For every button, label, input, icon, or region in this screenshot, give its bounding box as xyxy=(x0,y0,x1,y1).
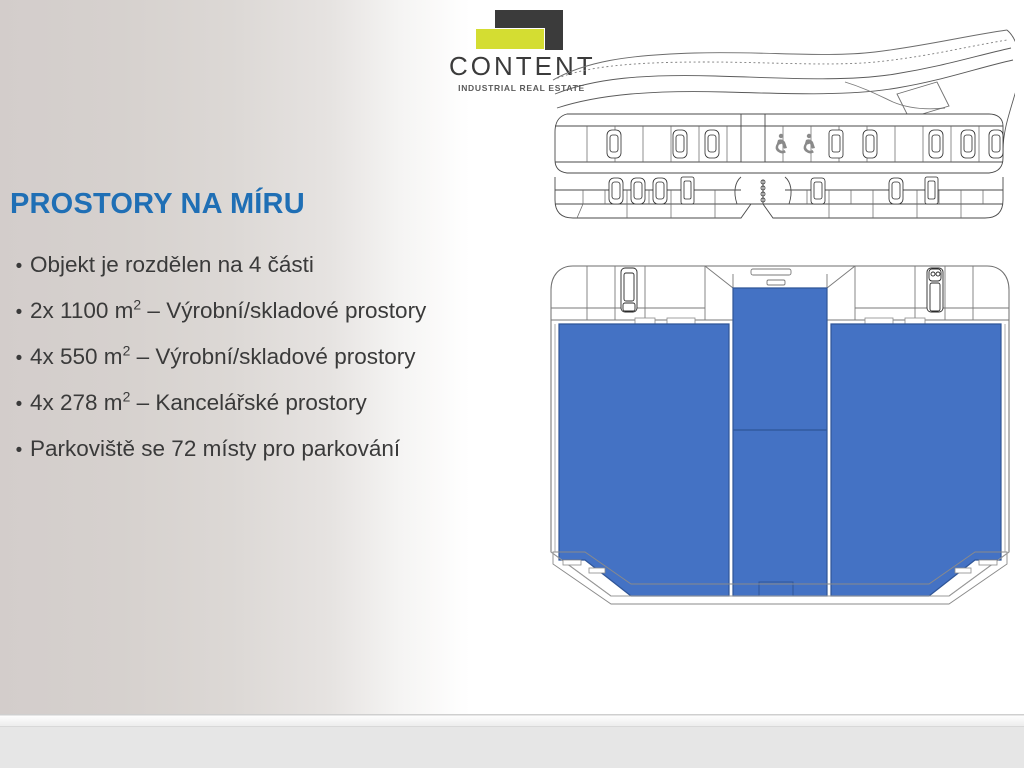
bullet-marker-icon: • xyxy=(8,441,30,460)
bullet-marker-icon: • xyxy=(8,395,30,414)
unit-prefix: 4x 278 m xyxy=(30,390,123,415)
unit-suffix: – Výrobní/skladové prostory xyxy=(130,344,415,369)
unit-prefix: 2x 1100 m xyxy=(30,298,133,323)
list-item-label: 2x 1100 m2 – Výrobní/skladové prostory xyxy=(30,298,426,324)
unit-block-center xyxy=(733,288,827,596)
unit-block-right xyxy=(831,324,1001,596)
unit-suffix: – Kancelářské prostory xyxy=(130,390,366,415)
bullet-list: • Objekt je rozdělen na 4 části • 2x 110… xyxy=(8,252,528,482)
list-item: • 4x 550 m2 – Výrobní/skladové prostory xyxy=(8,344,528,390)
unit-superscript: 2 xyxy=(133,297,141,313)
slide-canvas: CONTENT INDUSTRIAL REAL ESTATE PROSTORY … xyxy=(0,0,1024,768)
page-title: PROSTORY NA MÍRU xyxy=(10,188,305,221)
bullet-marker-icon: • xyxy=(8,303,30,322)
list-item: • Objekt je rozdělen na 4 části xyxy=(8,252,528,298)
list-item: • 2x 1100 m2 – Výrobní/skladové prostory xyxy=(8,298,528,344)
unit-block-left xyxy=(559,324,729,596)
bullet-marker-icon: • xyxy=(8,349,30,368)
list-item-label: Parkoviště se 72 místy pro parkování xyxy=(30,436,400,462)
logo-green-bar xyxy=(476,29,544,49)
building-floor-plan xyxy=(545,252,1015,622)
list-item-label: 4x 550 m2 – Výrobní/skladové prostory xyxy=(30,344,415,370)
footer-highlight xyxy=(0,716,1024,727)
list-item-label: 4x 278 m2 – Kancelářské prostory xyxy=(30,390,367,416)
unit-suffix: – Výrobní/skladové prostory xyxy=(141,298,426,323)
list-item: • Parkoviště se 72 místy pro parkování xyxy=(8,436,528,482)
parking-site-plan xyxy=(545,22,1015,227)
list-item: • 4x 278 m2 – Kancelářské prostory xyxy=(8,390,528,436)
bullet-marker-icon: • xyxy=(8,257,30,276)
unit-prefix: 4x 550 m xyxy=(30,344,123,369)
list-item-label: Objekt je rozdělen na 4 části xyxy=(30,252,314,278)
